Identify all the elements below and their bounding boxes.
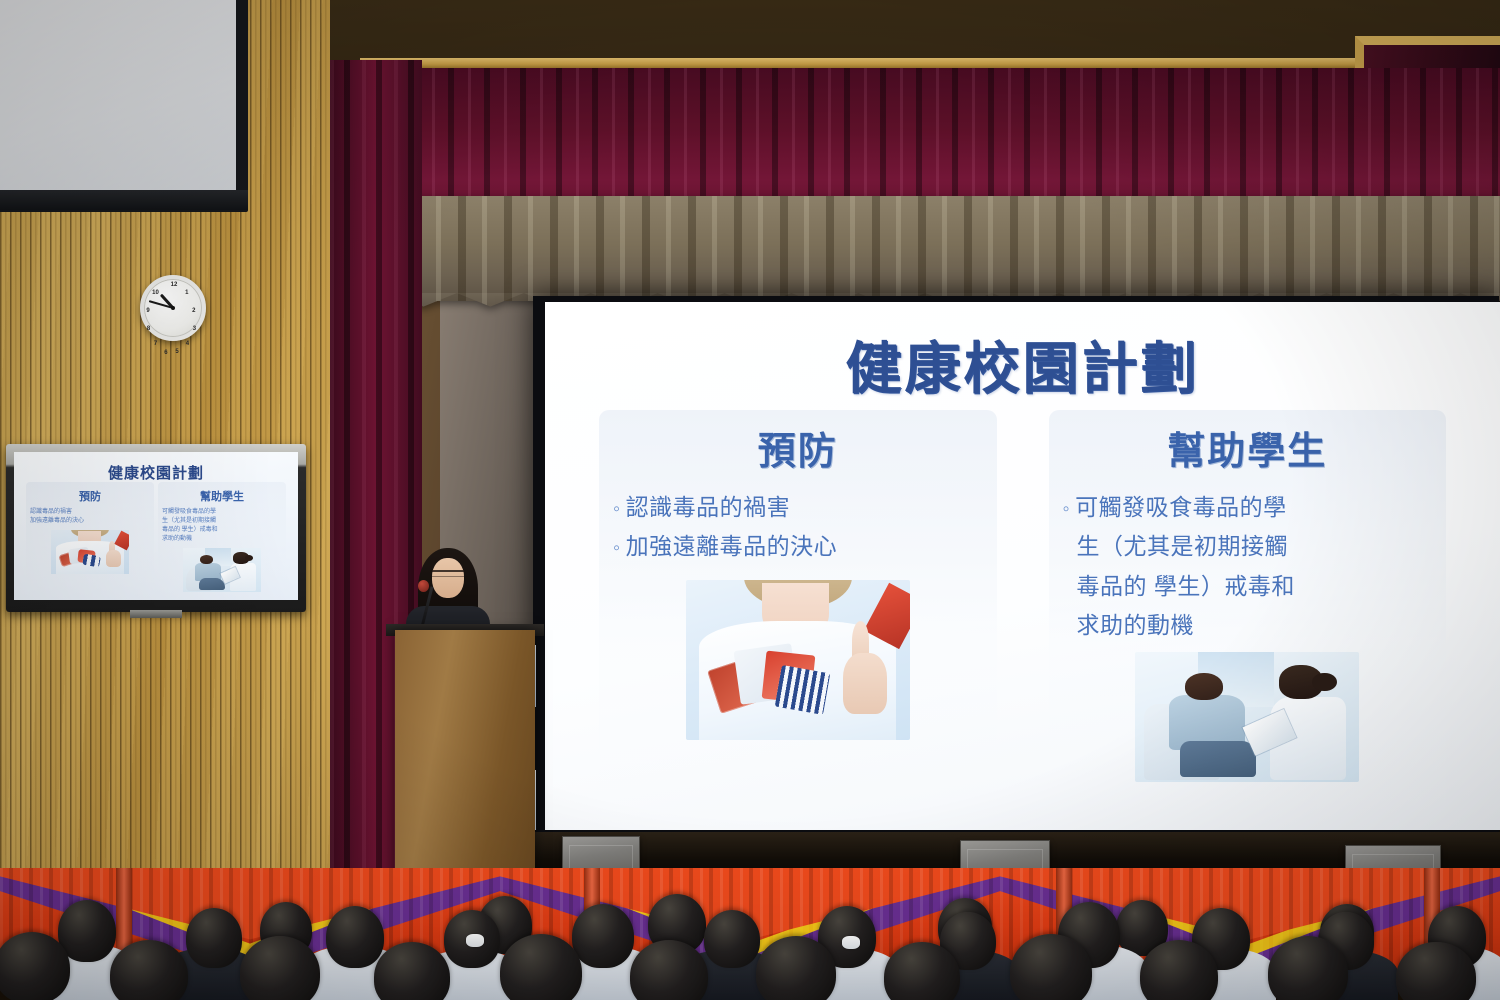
preview-monitor-screen[interactable]: 健康校園計劃 預防 認識毒品的禍害 加強遠離毒品的決心: [14, 452, 298, 600]
main-projection-screen[interactable]: 健康校園計劃 預防 認識毒品的禍害 加強遠離毒品的決心: [545, 302, 1500, 830]
podium: [395, 630, 535, 880]
preview-bullet: 求助的動機: [162, 535, 282, 544]
auditorium-scene: 12 1 2 3 4 5 6 7 8 9 10 健康校園計劃 預防 認識毒品的禍…: [0, 0, 1500, 1000]
photo-person-legs: [1180, 741, 1256, 777]
audience-head: [326, 906, 384, 968]
khaki-pleated-valance: [390, 196, 1500, 301]
face-mask-icon: [466, 934, 484, 947]
slide-counselling-photo: [1135, 652, 1359, 782]
clock-numeral: 10: [152, 290, 159, 296]
slide-bullet-continuation: 求助的動機: [1063, 609, 1455, 642]
presenter-face: [432, 558, 464, 598]
slide-bullet-continuation: 生（尤其是初期接觸: [1063, 530, 1455, 563]
preview-column-help-students: 幫助學生 可觸發吸食毒品的學 生（尤其是初期接觸 毒品的 學生）戒毒和 求助的動…: [156, 488, 288, 592]
preview-bullet: 毒品的 學生）戒毒和: [162, 526, 282, 535]
preview-column-prevention: 預防 認識毒品的禍害 加強遠離毒品的決心: [24, 488, 156, 592]
slide-pharmacist-photo: [686, 580, 910, 740]
photo-counsellor-hair-bun: [1312, 673, 1337, 691]
preview-counselling-photo: [183, 548, 261, 592]
audience-head: [110, 940, 188, 1000]
slide-column-bullets: 認識毒品的禍害 加強遠離毒品的決心: [591, 491, 1005, 564]
projector-screen-bottom-bar: [0, 190, 248, 210]
clock-numeral: 6: [164, 350, 167, 356]
audience-head: [374, 942, 450, 1000]
preview-column-heading: 預防: [30, 488, 150, 504]
preview-bullet: 加強遠離毒品的決心: [30, 517, 150, 526]
clock-numeral: 2: [192, 308, 195, 314]
slide-title: 健康校園計劃: [545, 324, 1500, 405]
audience-head: [1010, 934, 1092, 1000]
photo-hand-shape: [106, 550, 122, 567]
clock-numeral: 3: [193, 326, 196, 332]
preview-monitor-stand: [130, 610, 182, 618]
slide-bullet: 加強遠離毒品的決心: [613, 530, 1005, 563]
clock-numeral: 5: [175, 349, 178, 355]
photo-counsellor-hair-bun: [245, 555, 254, 561]
audience-head: [756, 936, 836, 1000]
slide-column-heading: 預防: [591, 420, 1005, 475]
audience-head: [572, 904, 634, 968]
slide-bullet: 認識毒品的禍害: [613, 491, 1005, 524]
photo-blister-pack: [774, 665, 830, 715]
audience-head: [630, 940, 708, 1000]
microphone-icon: [418, 580, 429, 592]
clock-numeral: 9: [146, 308, 149, 314]
clock-numeral: 1: [185, 290, 188, 296]
audience-head: [186, 908, 242, 968]
face-mask-icon: [842, 936, 860, 949]
audience-head: [1268, 936, 1348, 1000]
student-audience: [0, 876, 1500, 1000]
preview-column-heading: 幫助學生: [162, 488, 282, 504]
glasses-icon: [432, 570, 464, 577]
audience-head: [0, 932, 70, 1000]
wall-clock: 12 1 2 3 4 5 6 7 8 9 10: [140, 275, 206, 341]
preview-pharmacist-photo: [51, 530, 129, 574]
preview-slide-title: 健康校園計劃: [14, 462, 298, 483]
slide-column-bullets: 可觸發吸食毒品的學 生（尤其是初期接觸 毒品的 學生）戒毒和 求助的動機: [1041, 491, 1455, 642]
clock-numeral: 4: [186, 341, 189, 347]
preview-bullet: 認識毒品的禍害: [30, 508, 150, 517]
clock-center-pin: [171, 306, 175, 310]
slide-column-prevention: 預防 認識毒品的禍害 加強遠離毒品的決心: [573, 420, 1023, 820]
slide-columns: 預防 認識毒品的禍害 加強遠離毒品的決心: [573, 420, 1472, 820]
clock-numeral: 12: [171, 282, 178, 288]
slide-bullet: 可觸發吸食毒品的學: [1063, 491, 1455, 524]
audience-head: [500, 934, 582, 1000]
audience-head: [704, 910, 760, 968]
preview-slide-columns: 預防 認識毒品的禍害 加強遠離毒品的決心 幫助學生: [24, 488, 288, 592]
projector-screen: [0, 0, 236, 190]
preview-bullet: 生（尤其是初期接觸: [162, 517, 282, 526]
clock-numeral: 7: [154, 341, 157, 347]
photo-person-head: [1185, 673, 1223, 700]
preview-bullet: 可觸發吸食毒品的學: [162, 508, 282, 517]
photo-hand-shape: [843, 653, 888, 714]
slide-bullet-continuation: 毒品的 學生）戒毒和: [1063, 570, 1455, 603]
photo-person-legs: [199, 578, 226, 590]
clock-numeral: 8: [147, 326, 150, 332]
slide-column-help-students: 幫助學生 可觸發吸食毒品的學 生（尤其是初期接觸 毒品的 學生）戒毒和 求助的動…: [1023, 420, 1473, 820]
audience-head: [240, 936, 320, 1000]
slide-column-heading: 幫助學生: [1041, 420, 1455, 475]
